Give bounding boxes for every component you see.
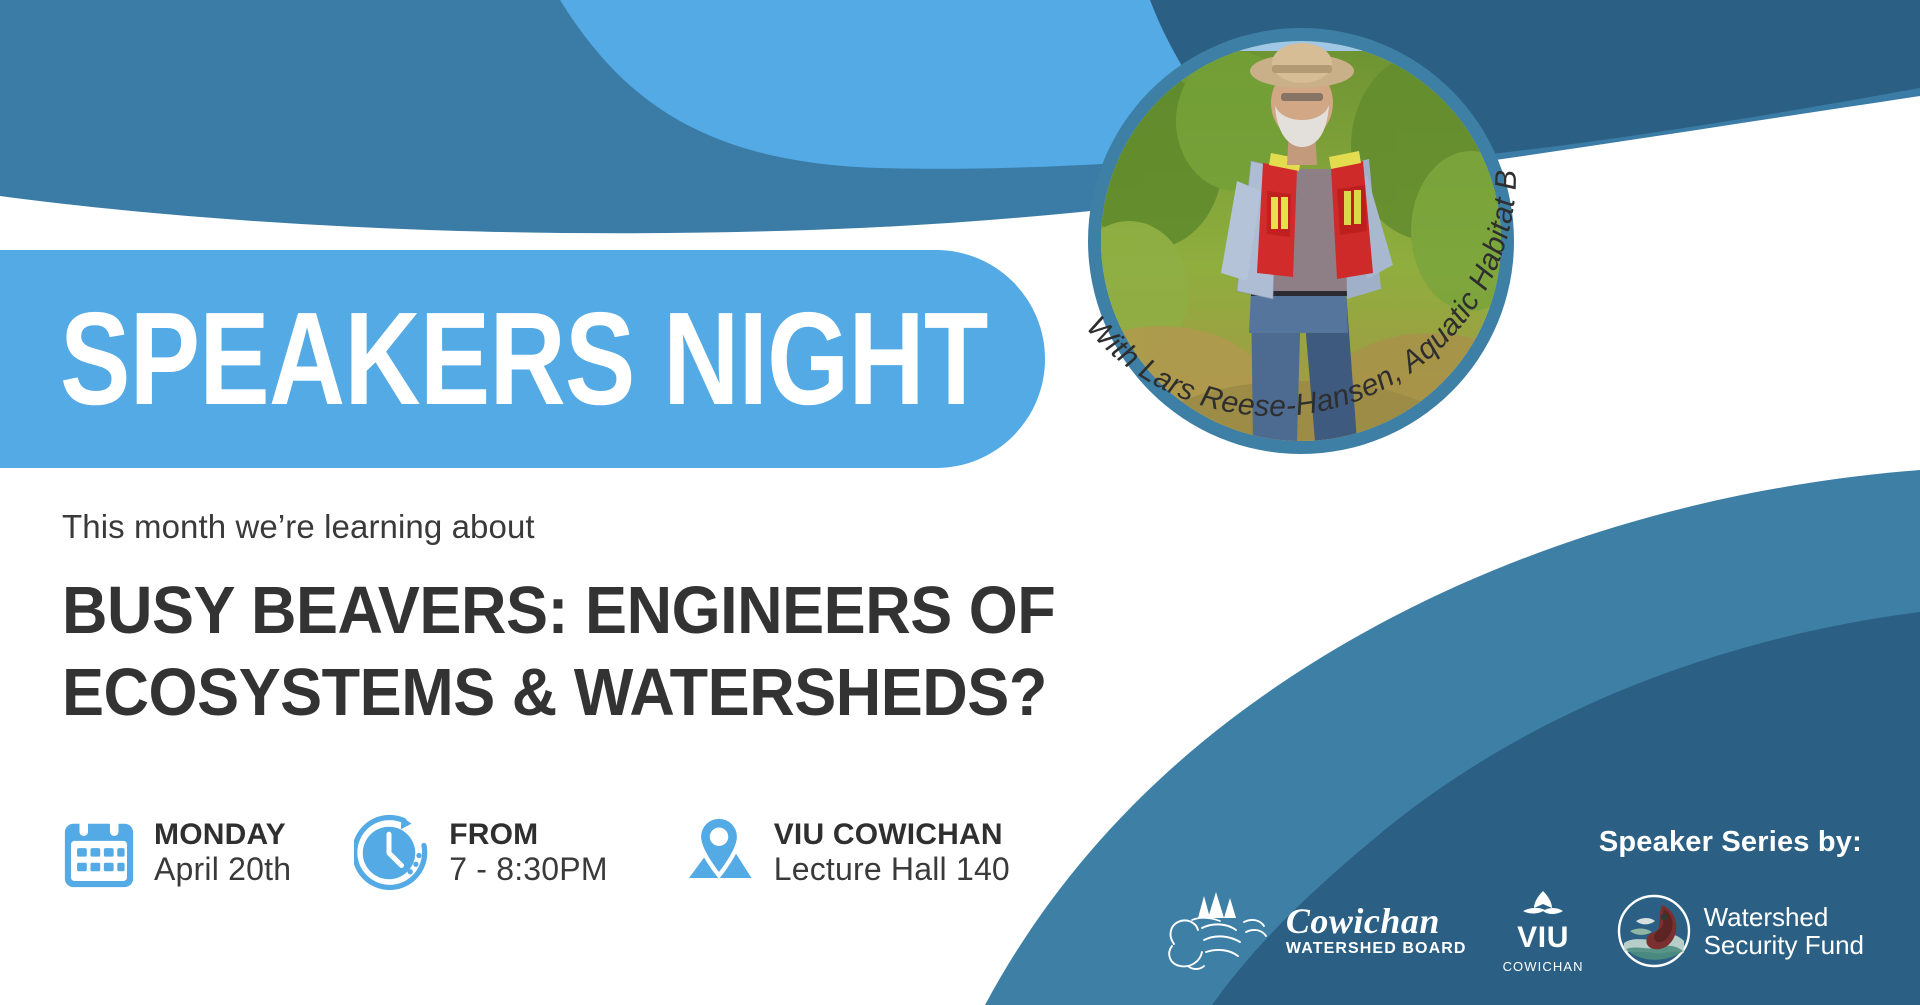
detail-date-text: MONDAY April 20th xyxy=(154,818,291,887)
viu-logo-name: VIU xyxy=(1503,923,1584,953)
headline-line-2: ECOSYSTEMS & WATERSHEDS? xyxy=(62,652,1171,734)
detail-date: MONDAY April 20th xyxy=(58,812,291,894)
eyebrow-text: This month we’re learning about xyxy=(62,508,535,546)
sponsor-title: Speaker Series by: xyxy=(1599,826,1862,859)
cowichan-logo-name: Cowichan xyxy=(1286,904,1467,938)
viu-cowichan-logo: VIU COWICHAN xyxy=(1503,889,1584,974)
detail-location: VIU COWICHAN Lecture Hall 140 xyxy=(678,812,1010,894)
detail-location-value: Lecture Hall 140 xyxy=(774,852,1010,888)
top-dark-wave xyxy=(0,0,1920,233)
event-details: MONDAY April 20th FROM 7 - 8:30PM xyxy=(58,812,1010,894)
clock-icon xyxy=(353,812,435,894)
watershed-security-fund-logo: Watershed Security Fund xyxy=(1614,891,1864,971)
detail-time-label: FROM xyxy=(449,818,608,852)
viu-leaf-icon xyxy=(1515,889,1571,921)
cowichan-hands-trees-icon xyxy=(1158,888,1278,974)
viu-logo-subtitle: COWICHAN xyxy=(1503,959,1584,974)
sponsor-logos: Cowichan WATERSHED BOARD VIU COWICHAN xyxy=(1158,888,1864,974)
detail-location-label: VIU COWICHAN xyxy=(774,818,1010,852)
map-pin-icon xyxy=(678,812,760,894)
speakers-night-poster: SPEAKERS NIGHT This month we’re learning… xyxy=(0,0,1920,1005)
cowichan-logo-subtitle: WATERSHED BOARD xyxy=(1286,940,1467,958)
detail-date-label: MONDAY xyxy=(154,818,291,852)
headline: BUSY BEAVERS: ENGINEERS OF ECOSYSTEMS & … xyxy=(62,570,1242,733)
detail-date-value: April 20th xyxy=(154,852,291,888)
detail-time-value: 7 - 8:30PM xyxy=(449,852,608,888)
photo-inner xyxy=(1101,41,1501,441)
wsf-logo-subtitle: Security Fund xyxy=(1704,930,1864,960)
cowichan-watershed-board-logo: Cowichan WATERSHED BOARD xyxy=(1158,888,1467,974)
detail-time: FROM 7 - 8:30PM xyxy=(353,812,608,894)
page-title: SPEAKERS NIGHT xyxy=(60,293,988,425)
headline-line-1: BUSY BEAVERS: ENGINEERS OF xyxy=(62,570,1171,652)
title-banner: SPEAKERS NIGHT xyxy=(0,250,1045,468)
salmon-circle-icon xyxy=(1614,891,1694,971)
detail-time-text: FROM 7 - 8:30PM xyxy=(449,818,608,887)
watershed-security-fund-text: Watershed Security Fund xyxy=(1704,903,1864,959)
calendar-icon xyxy=(58,812,140,894)
wsf-logo-name: Watershed xyxy=(1704,902,1829,932)
speaker-photo xyxy=(1088,28,1514,454)
detail-location-text: VIU COWICHAN Lecture Hall 140 xyxy=(774,818,1010,887)
